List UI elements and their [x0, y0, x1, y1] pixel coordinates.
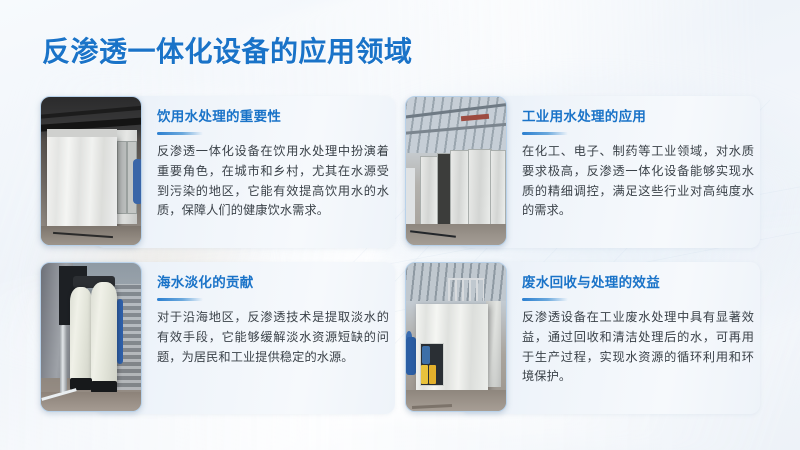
card-seawater-desalination[interactable]: 海水淡化的贡献 对于沿海地区，反渗透技术是提取淡水的有效手段，它能够缓解淡水资源…	[40, 262, 395, 414]
card-industrial-water[interactable]: 工业用水处理的应用 在化工、电子、制药等工业领域，对水质要求极高，反渗透一体化设…	[405, 96, 760, 248]
card-text-industrial-water: 工业用水处理的应用 在化工、电子、制药等工业领域，对水质要求极高，反渗透一体化设…	[522, 96, 754, 221]
card-heading: 废水回收与处理的效益	[522, 275, 754, 291]
card-body: 反渗透设备在工业废水处理中具有显著效益，通过回收和清洁处理后的水，可再用于生产过…	[522, 308, 754, 387]
card-heading: 海水淡化的贡献	[157, 275, 389, 291]
card-image-drinking-water	[40, 96, 142, 246]
card-divider	[522, 132, 568, 135]
card-heading: 饮用水处理的重要性	[157, 109, 389, 125]
card-image-wastewater-recovery	[405, 262, 507, 412]
card-drinking-water[interactable]: 饮用水处理的重要性 反渗透一体化设备在饮用水处理中扮演着重要角色，在城市和乡村，…	[40, 96, 395, 248]
card-image-industrial-water	[405, 96, 507, 246]
card-text-seawater-desalination: 海水淡化的贡献 对于沿海地区，反渗透技术是提取淡水的有效手段，它能够缓解淡水资源…	[157, 262, 389, 367]
card-heading: 工业用水处理的应用	[522, 109, 754, 125]
cards-grid: 饮用水处理的重要性 反渗透一体化设备在饮用水处理中扮演着重要角色，在城市和乡村，…	[0, 0, 800, 450]
card-body: 对于沿海地区，反渗透技术是提取淡水的有效手段，它能够缓解淡水资源短缺的问题，为居…	[157, 308, 389, 367]
card-text-wastewater-recovery: 废水回收与处理的效益 反渗透设备在工业废水处理中具有显著效益，通过回收和清洁处理…	[522, 262, 754, 387]
card-wastewater-recovery[interactable]: 废水回收与处理的效益 反渗透设备在工业废水处理中具有显著效益，通过回收和清洁处理…	[405, 262, 760, 414]
card-divider	[157, 298, 203, 301]
card-image-seawater-desalination	[40, 262, 142, 412]
card-text-drinking-water: 饮用水处理的重要性 反渗透一体化设备在饮用水处理中扮演着重要角色，在城市和乡村，…	[157, 96, 389, 221]
card-body: 在化工、电子、制药等工业领域，对水质要求极高，反渗透一体化设备能够实现水质的精细…	[522, 142, 754, 221]
card-body: 反渗透一体化设备在饮用水处理中扮演着重要角色，在城市和乡村，尤其在水源受到污染的…	[157, 142, 389, 221]
card-divider	[157, 132, 203, 135]
slide-root: 反渗透一体化设备的应用领域 饮用水处理的重要性 反渗透	[0, 0, 800, 450]
card-divider	[522, 298, 568, 301]
